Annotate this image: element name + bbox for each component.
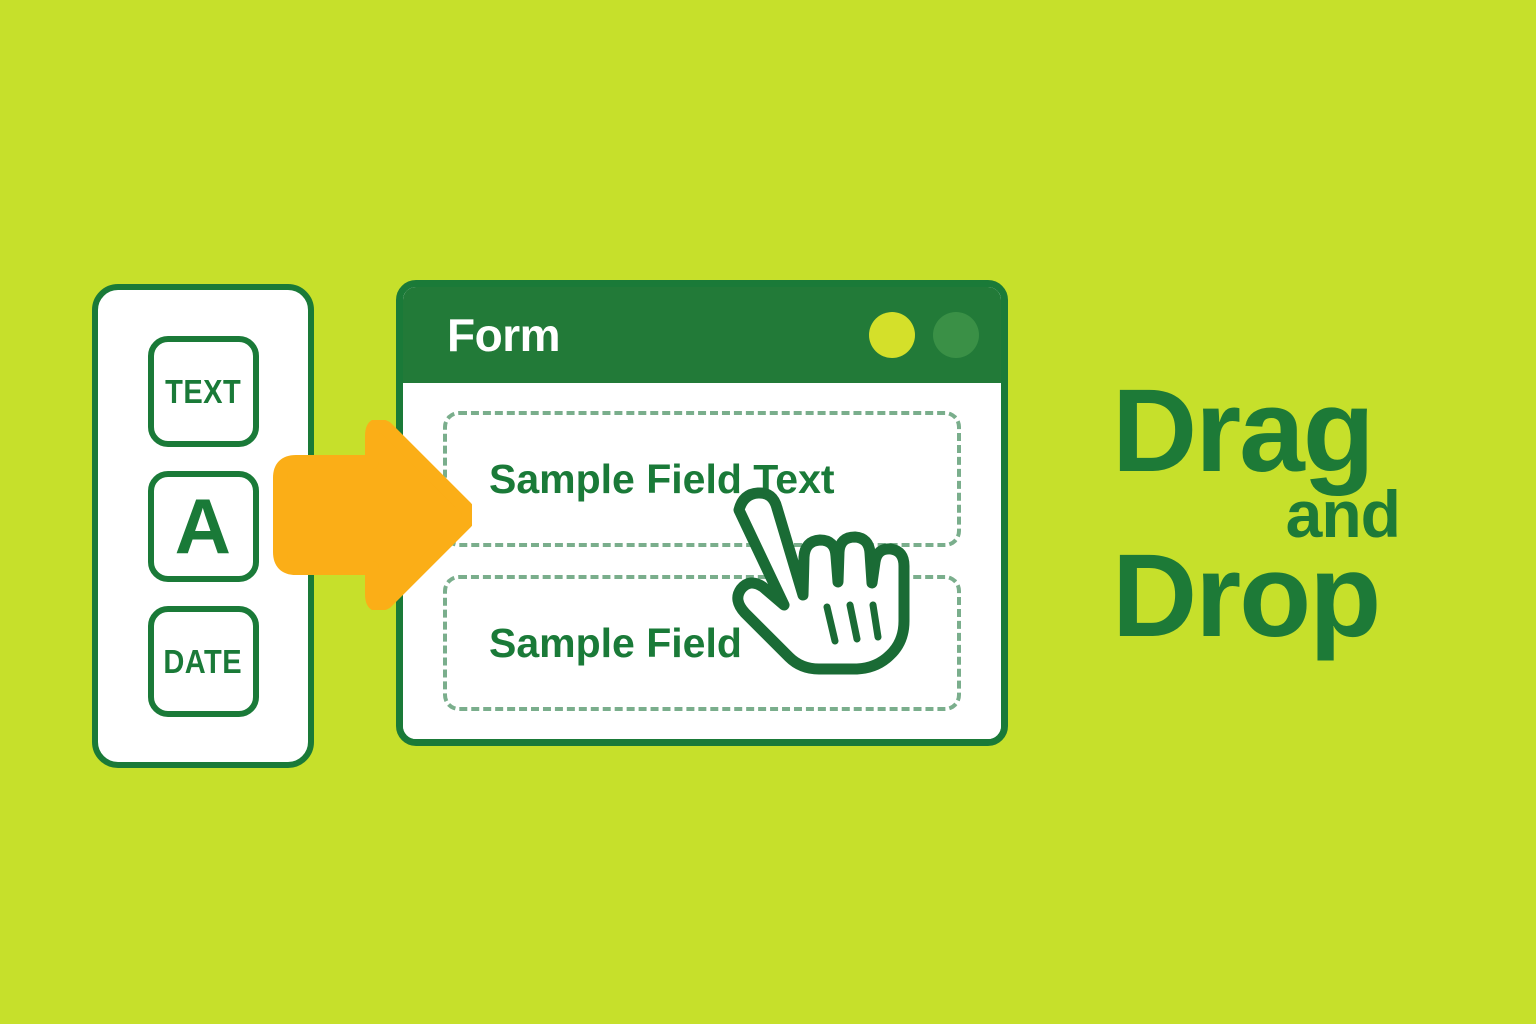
- palette-tile-letter-a[interactable]: A: [148, 471, 259, 582]
- right-arrow-icon: [272, 420, 472, 610]
- form-field-label: Sample Field Text: [489, 459, 835, 500]
- maximize-dot-icon[interactable]: [933, 312, 979, 358]
- illustration-canvas: TEXT A DATE Form Sample Field Text: [0, 0, 1536, 1024]
- headline: Drag and Drop: [1112, 382, 1412, 646]
- palette-tile-label: DATE: [164, 645, 243, 678]
- form-field-dropzone-2[interactable]: Sample Field: [443, 575, 961, 711]
- palette-tile-text[interactable]: TEXT: [148, 336, 259, 447]
- palette-tile-label: A: [175, 487, 232, 565]
- headline-line-drag: Drag: [1112, 382, 1412, 481]
- form-window-titlebar: Form: [403, 287, 1001, 383]
- palette-tile-label: TEXT: [165, 375, 241, 408]
- form-field-label: Sample Field: [489, 623, 742, 664]
- minimize-dot-icon[interactable]: [869, 312, 915, 358]
- window-controls: [869, 312, 979, 358]
- form-window-title: Form: [447, 312, 560, 358]
- form-window: Form Sample Field Text Sample Field: [396, 280, 1008, 746]
- form-field-dropzone-1[interactable]: Sample Field Text: [443, 411, 961, 547]
- form-window-body: Sample Field Text Sample Field: [403, 383, 1001, 739]
- palette-tile-date[interactable]: DATE: [148, 606, 259, 717]
- headline-line-drop: Drop: [1112, 547, 1412, 646]
- arrow-shape: [280, 425, 469, 604]
